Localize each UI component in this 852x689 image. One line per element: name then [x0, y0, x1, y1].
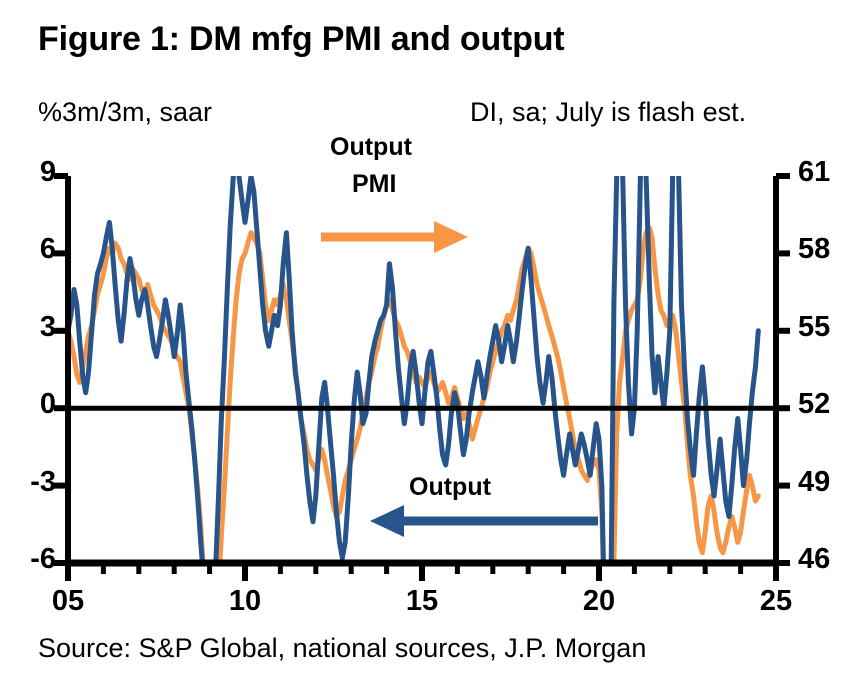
figure-container: Figure 1: DM mfg PMI and output %3m/3m, …: [0, 0, 852, 689]
y-axis-left-tick-5: -6: [0, 543, 56, 576]
y-axis-right-tick-5: 46: [798, 543, 852, 576]
x-axis-tick-2: 15: [392, 585, 452, 618]
source-note: Source: S&P Global, national sources, J.…: [38, 633, 646, 664]
y-axis-right-tick-1: 58: [798, 233, 852, 266]
y-axis-right-tick-3: 52: [798, 388, 852, 421]
x-axis-tick-0: 05: [38, 585, 98, 618]
y-axis-left-tick-4: -3: [0, 466, 56, 499]
y-axis-left-tick-3: 0: [0, 388, 56, 421]
y-axis-left-tick-1: 6: [0, 233, 56, 266]
x-axis-tick-4: 25: [746, 585, 806, 618]
y-axis-left-tick-2: 3: [0, 311, 56, 344]
y-axis-left-tick-0: 9: [0, 156, 56, 189]
x-axis-tick-3: 20: [569, 585, 629, 618]
y-axis-right-tick-4: 49: [798, 466, 852, 499]
y-axis-right-tick-0: 61: [798, 156, 852, 189]
x-axis-tick-1: 10: [215, 585, 275, 618]
y-axis-right-tick-2: 55: [798, 311, 852, 344]
